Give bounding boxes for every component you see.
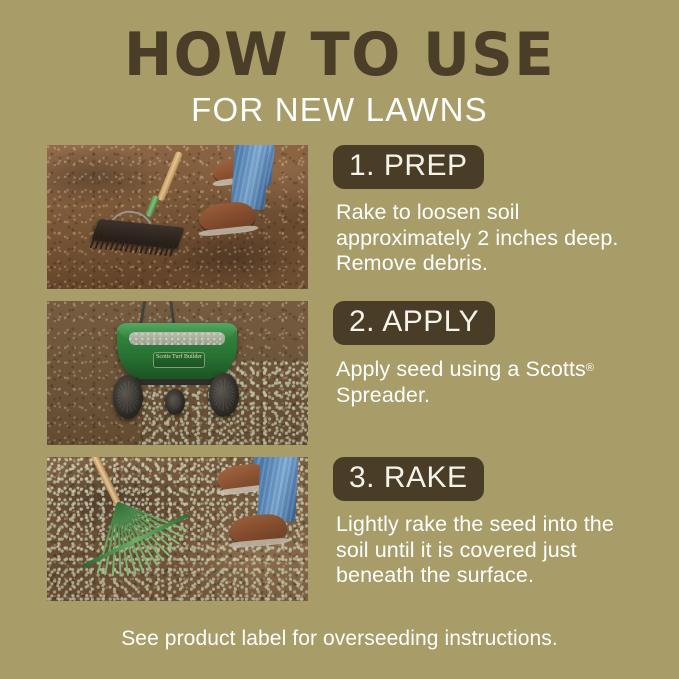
page-subtitle: FOR NEW LAWNS [0, 86, 679, 128]
step-2-badge: 2. APPLY [333, 301, 495, 345]
hopper-seed-fill [129, 332, 225, 345]
jeans-leg-front [231, 145, 270, 210]
step-1-body: Rake to loosen soil approximately 2 inch… [336, 200, 636, 277]
scotts-spreader: Scotts Turf Builder [109, 313, 249, 433]
step-3-badge: 3. RAKE [333, 457, 484, 501]
step-3-body: Lightly rake the seed into the soil unti… [336, 512, 636, 589]
spreader-wheel-center [165, 389, 185, 415]
step-1-photo [47, 145, 308, 289]
spreader-logo: Scotts Turf Builder [153, 352, 205, 368]
step-2-body: Apply seed using a Scotts® Spreader. [336, 356, 636, 408]
step-2-body-before: Apply seed using a Scotts [336, 357, 586, 381]
page-title: HOW TO USE [14, 0, 666, 86]
registered-mark: ® [586, 362, 594, 374]
step-2-body-after: Spreader. [336, 383, 430, 407]
step-2-photo: Scotts Turf Builder [47, 301, 308, 445]
step-1-text: 1. PREP Rake to loosen soil approximatel… [333, 145, 653, 277]
jeans-leg-front [257, 457, 299, 522]
step-3-photo [47, 457, 308, 601]
header: HOW TO USE FOR NEW LAWNS [0, 0, 679, 128]
step-1-badge: 1. PREP [333, 145, 484, 189]
step-2-text: 2. APPLY Apply seed using a Scotts® Spre… [333, 301, 653, 408]
step-3-text: 3. RAKE Lightly rake the seed into the s… [333, 457, 653, 589]
spreader-hopper: Scotts Turf Builder [117, 323, 237, 379]
how-to-use-infographic: HOW TO USE FOR NEW LAWNS [0, 0, 679, 679]
spreader-wheel-left [113, 375, 143, 419]
footer-note: See product label for overseeding instru… [0, 626, 679, 652]
spreader-wheel-right [209, 373, 239, 417]
